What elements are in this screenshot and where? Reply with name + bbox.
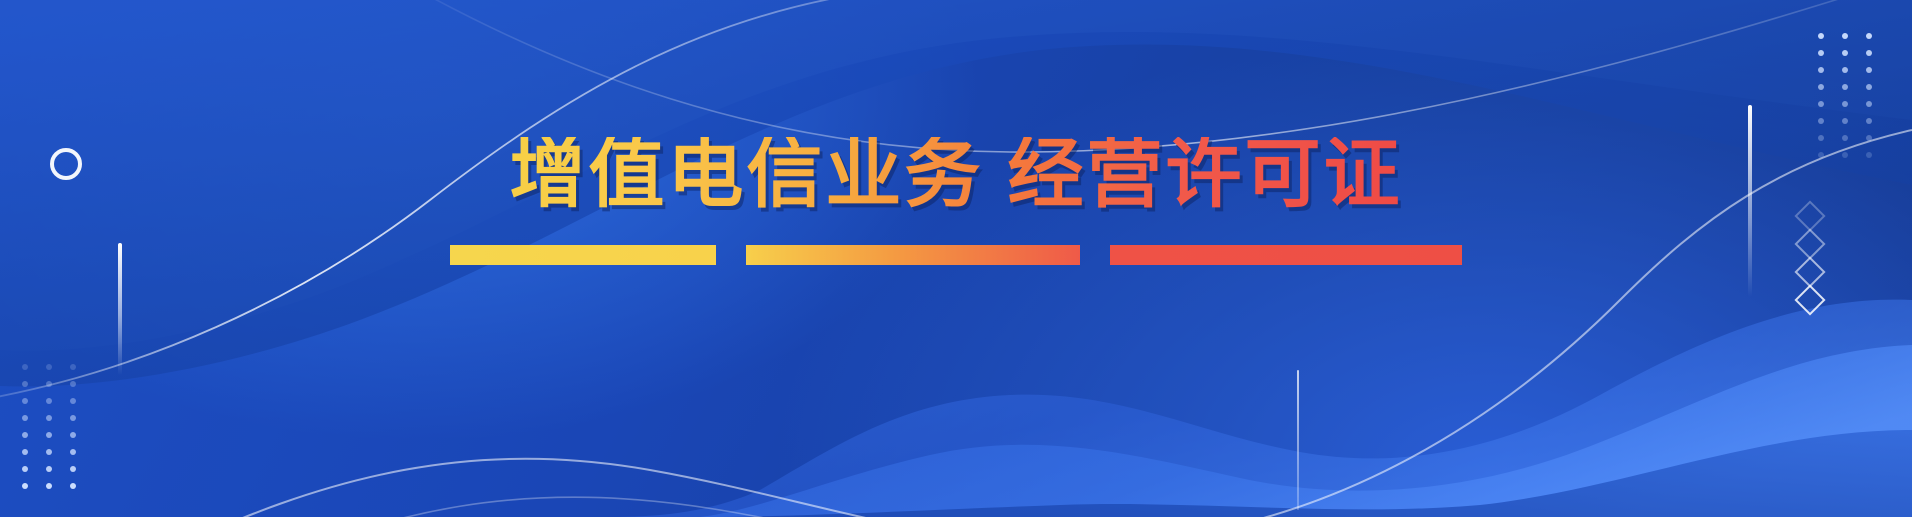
promo-banner: 增值电信业务 经营许可证 专属顾问团队24小时在线贴心服务 可以为客户提供量身定… bbox=[0, 0, 1912, 517]
accent-bar-bottom bbox=[1297, 370, 1299, 510]
dot-grid-bottom-left-icon bbox=[22, 364, 76, 489]
dot-grid-top-right-icon bbox=[1818, 33, 1872, 158]
wave-top-dark bbox=[0, 0, 1912, 386]
accent-bar-left bbox=[118, 243, 122, 375]
circle-outline-icon bbox=[50, 148, 82, 180]
wave-decoration-layer bbox=[0, 0, 1912, 517]
accent-bar-right bbox=[1748, 105, 1752, 297]
